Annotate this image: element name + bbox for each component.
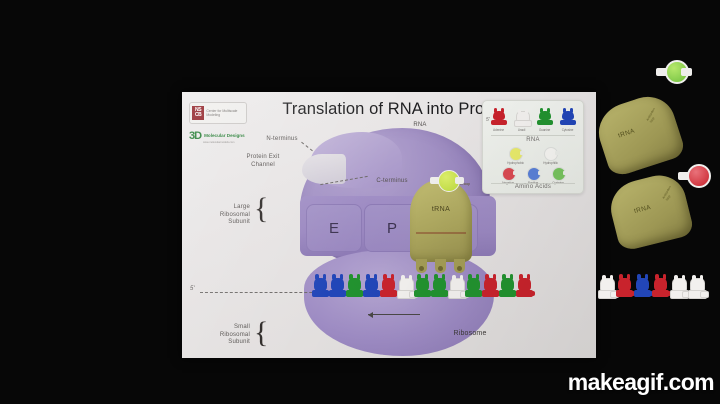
- amino-acid-on-loose-trna-1: [656, 58, 690, 88]
- trna-anticodon-leg: [435, 259, 446, 273]
- large-subunit-brace: {: [254, 192, 268, 226]
- protein-exit-channel-shape: [302, 154, 346, 184]
- label-large-ribosomal-subunit: Large Ribosomal Subunit: [196, 204, 250, 227]
- trna-anticodon-leg: [416, 259, 427, 273]
- legend-card: 5' Adenine Uracil Guanine Cytosine: [482, 100, 584, 194]
- mrna-nucleotide: [670, 278, 687, 302]
- mrna-nucleotide: [499, 278, 516, 302]
- label-protein-exit-channel: Protein Exit Channel: [234, 154, 292, 169]
- label-rna: RNA: [400, 122, 440, 130]
- threed-name: Molecular Designs: [204, 133, 245, 138]
- amino-acid-on-trna: [430, 168, 464, 194]
- trna-label: tRNA: [410, 206, 472, 213]
- threed-mark: 3D: [189, 130, 201, 142]
- nsf-logo: NS CB Center for Multiscale Modeling: [189, 102, 247, 124]
- amino-acid-arm: [455, 177, 464, 184]
- molecular-designs-logo: 3D Molecular Designs www.molecularmodels…: [189, 128, 255, 144]
- legend-amino-hydrophilic: Hydrophilic: [540, 147, 561, 165]
- label-small-ribosomal-subunit: Small Ribosomal Subunit: [196, 324, 250, 347]
- mrna-nucleotide: [448, 278, 465, 302]
- mrna-nucleotide: [516, 278, 533, 302]
- legend-divider: [491, 135, 575, 136]
- legend-base-uracil: Uracil: [511, 111, 532, 132]
- mrna-nucleotide: [329, 278, 346, 302]
- legend-bases-row: Adenine Uracil Guanine Cytosine: [483, 111, 583, 132]
- loose-trna-1: tRNA Anticodon loop: [600, 100, 678, 168]
- watermark: makeagif.com: [568, 369, 714, 396]
- mrna-nucleotide: [465, 278, 482, 302]
- mrna-nucleotide: [380, 278, 397, 302]
- mrna-nucleotide: [688, 278, 705, 302]
- amino-acid-on-loose-trna-2: [678, 162, 712, 192]
- legend-amino-hydrophobic: Hydrophobic: [505, 147, 526, 165]
- threed-sub: www.molecularmodels.com: [203, 141, 234, 144]
- label-ribosome: Ribosome: [440, 330, 500, 338]
- mrna-nucleotide: [652, 278, 669, 302]
- trna-body-shape: [591, 90, 686, 179]
- legend-base-guanine: Guanine: [534, 111, 555, 132]
- mrna-nucleotide: [312, 278, 329, 302]
- nsf-caption: Center for Multiscale Modeling: [206, 109, 244, 117]
- legend-base-cytosine: Cytosine: [557, 111, 578, 132]
- translation-poster: Translation of RNA into Proteins NS CB C…: [182, 92, 596, 358]
- legend-rna-title: RNA: [483, 137, 583, 143]
- video-frame: Translation of RNA into Proteins NS CB C…: [0, 0, 720, 404]
- mrna-direction-arrow: [368, 314, 420, 315]
- label-c-terminus: C-terminus: [364, 178, 420, 186]
- mrna-nucleotide: [431, 278, 448, 302]
- five-prime-mark: 5': [190, 286, 194, 292]
- mrna-nucleotide: [482, 278, 499, 302]
- mrna-nucleotide: [616, 278, 633, 302]
- small-subunit-brace: {: [254, 316, 268, 350]
- small-ribosomal-subunit-shape: [304, 250, 494, 356]
- mrna-nucleotide: [414, 278, 431, 302]
- mrna-nucleotide: [346, 278, 363, 302]
- trna-anticodon-leg: [454, 259, 465, 273]
- legend-amino-title: Amino Acids: [483, 184, 583, 190]
- ribosome-site-e: E: [306, 204, 362, 252]
- mrna-nucleotide: [363, 278, 380, 302]
- legend-base-adenine: Adenine: [488, 111, 509, 132]
- mrna-nucleotide: [598, 278, 615, 302]
- loose-trna-2: tRNA Anticodon loop: [612, 178, 688, 244]
- nsf-mark: NS CB: [192, 106, 204, 120]
- mrna-nucleotide: [397, 278, 414, 302]
- legend-amino-row-1: Hydrophobic Hydrophilic: [483, 147, 583, 165]
- mrna-nucleotide: [634, 278, 651, 302]
